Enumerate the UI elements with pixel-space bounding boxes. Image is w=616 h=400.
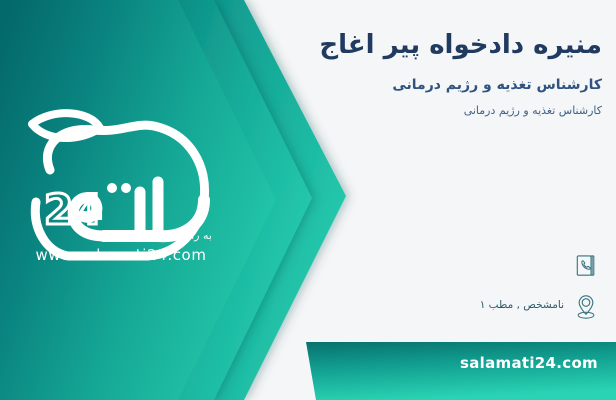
contact-address-text: نامشخص , مطب ۱ [480, 299, 564, 313]
footer-website-url: salamati24.com [460, 354, 598, 372]
business-card: 24 به راحتی یک لبخند www.salamati24.com … [0, 0, 616, 400]
location-pin-icon [572, 290, 600, 322]
doctor-specialty-secondary: کارشناس تغذیه و رژیم درمانی [232, 104, 602, 117]
phonebook-icon [572, 250, 600, 282]
doctor-name: منیره دادخواه پیر اغاج [232, 28, 602, 63]
contact-list: نامشخص , مطب ۱ [220, 246, 600, 326]
footer: salamati24.com [0, 342, 616, 400]
doctor-specialty: کارشناس تغذیه و رژیم درمانی [232, 77, 602, 93]
contact-row-phone[interactable] [220, 246, 600, 286]
contact-row-address[interactable]: نامشخص , مطب ۱ [220, 286, 600, 326]
doctor-info-block: منیره دادخواه پیر اغاج کارشناس تغذیه و ر… [232, 28, 602, 117]
